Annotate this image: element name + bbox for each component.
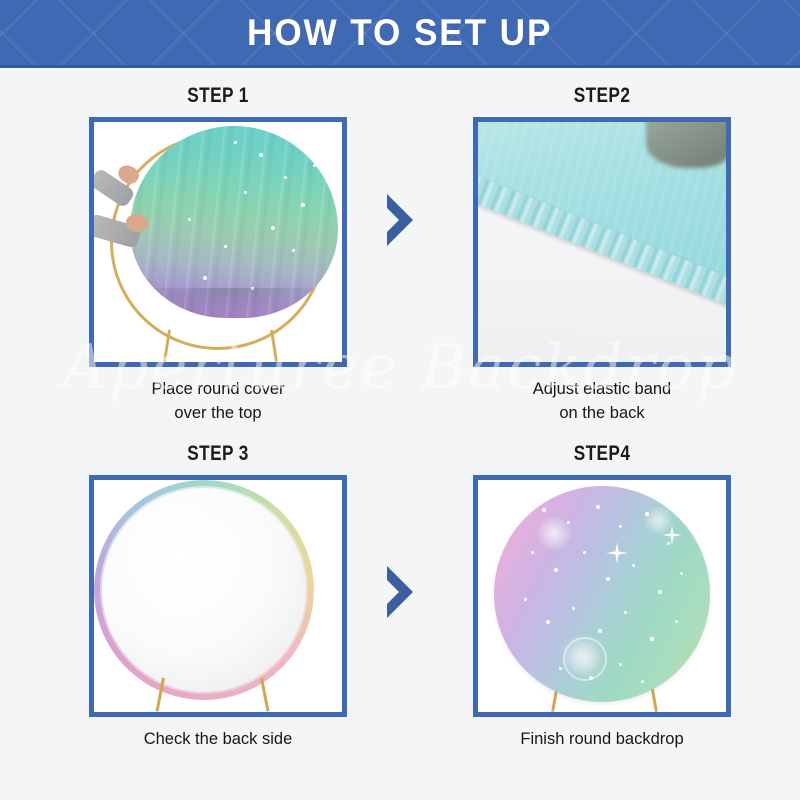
step-title-1: STEP 1	[95, 84, 341, 108]
step-image-frame-3	[89, 475, 347, 717]
step-caption-3: Check the back side	[68, 728, 368, 752]
step-photo-1	[94, 122, 342, 362]
step-photo-3	[94, 480, 342, 712]
step-image-frame-4	[473, 475, 731, 717]
step-title-3: STEP 3	[95, 442, 341, 466]
step-card-3: STEP 3 Check the back side	[68, 442, 368, 752]
header-banner: HOW TO SET UP	[0, 0, 800, 68]
background-corner-graphic	[646, 117, 731, 168]
step-caption-1: Place round cover over the top	[68, 378, 368, 426]
sparkle-icon	[606, 542, 628, 564]
cover-hem-shadow	[130, 288, 338, 318]
step-card-2: STEP2 Adjust elastic band on the back	[452, 84, 752, 426]
disc-shading-graphic	[100, 486, 308, 694]
step-title-2: STEP2	[479, 84, 725, 108]
step-caption-4: Finish round backdrop	[452, 728, 752, 752]
step-title-4: STEP4	[479, 442, 725, 466]
step-photo-2	[478, 122, 726, 362]
finished-backdrop-graphic	[494, 486, 710, 702]
sparkle-icon	[662, 525, 682, 545]
step-image-frame-2	[473, 117, 731, 367]
gradient-cover-graphic	[130, 126, 338, 318]
step-card-4: STEP4	[452, 442, 752, 752]
chevron-right-icon	[383, 564, 417, 620]
step-card-1: STEP 1	[68, 84, 368, 426]
step-photo-4	[478, 480, 726, 712]
step-caption-2: Adjust elastic band on the back	[452, 378, 752, 426]
light-halo-graphic	[563, 637, 607, 681]
steps-grid: STEP 1	[0, 68, 800, 800]
stand-leg-right-graphic	[260, 678, 269, 712]
chevron-right-icon	[383, 192, 417, 248]
step-image-frame-1	[89, 117, 347, 367]
stand-leg-right-graphic	[270, 330, 278, 362]
page-title: HOW TO SET UP	[247, 12, 552, 54]
